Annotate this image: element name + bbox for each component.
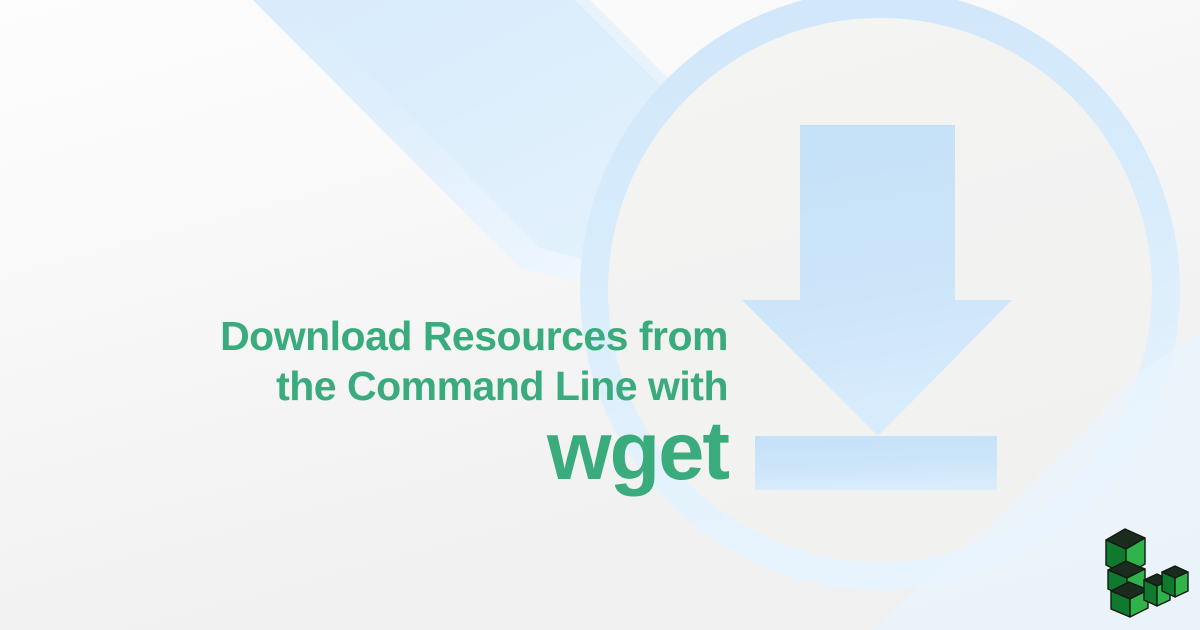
headline-line-1: Download Resources from (0, 316, 728, 357)
headline-block: Download Resources from the Command Line… (0, 316, 728, 492)
hero-banner-card: Download Resources from the Command Line… (0, 0, 1200, 630)
headline-line-3-wget: wget (0, 409, 728, 492)
isometric-cubes-logo (1098, 518, 1190, 618)
download-arrow-icon (742, 125, 1012, 490)
headline-line-2: the Command Line with (0, 366, 728, 407)
logo-cube-arm-outer (1162, 566, 1188, 597)
diagonal-band-shape (155, 0, 742, 310)
